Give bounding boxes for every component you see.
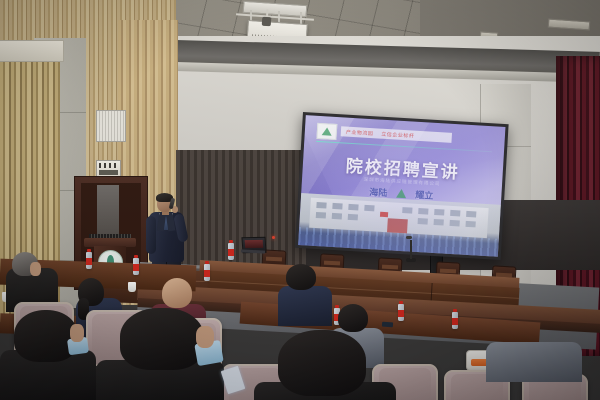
water-bottle [398,304,404,321]
sign-indicator-lights [99,163,118,168]
attendee-head [162,278,192,308]
attendee-grey-sleeve [486,342,582,382]
curtain-valance [0,40,64,62]
seated-audience [0,246,600,400]
smartphone [382,322,393,328]
sign-label-strip [99,170,118,175]
attendee-head [14,310,78,362]
bottle-label [133,264,139,271]
attendee-back-right [278,286,332,326]
water-bottle [452,312,458,329]
attendee-head [338,304,368,332]
attendee-face [30,262,41,276]
attendee-head [278,330,366,396]
bottle-label [204,270,210,277]
status-led [272,236,275,239]
water-bottle [133,258,139,275]
bottle-label [86,258,92,265]
bottle-cap [335,305,339,308]
bottle-cap [229,240,233,243]
bottle-cap [453,309,457,312]
bottle-label [452,318,458,325]
bottle-cap [134,255,138,258]
water-bottle [86,252,92,269]
projector-lens-icon [262,17,272,27]
attendee-face [70,324,84,342]
attendee-head [120,308,204,370]
attendee-head [286,264,316,290]
water-bottle [204,264,210,281]
ventilation-grille [96,110,126,142]
bottle-cap [205,261,209,264]
mic-capsule-icon [406,236,412,239]
auditorium-scene: 产业物流园 立信企业标杆 院校招聘宣讲 深圳市海陆供应链管理有限公司 海陆 耀立 [0,0,600,400]
bottle-label [398,310,404,317]
projector-light-wash [298,115,505,257]
slide-content: 产业物流园 立信企业标杆 院校招聘宣讲 深圳市海陆供应链管理有限公司 海陆 耀立 [298,115,505,257]
projection-screen: 产业物流园 立信企业标杆 院校招聘宣讲 深圳市海陆供应链管理有限公司 海陆 耀立 [295,112,509,260]
paper-cup [128,282,136,292]
bottle-cap [399,301,403,304]
attendee-face [196,326,214,348]
bottle-cap [87,249,91,252]
